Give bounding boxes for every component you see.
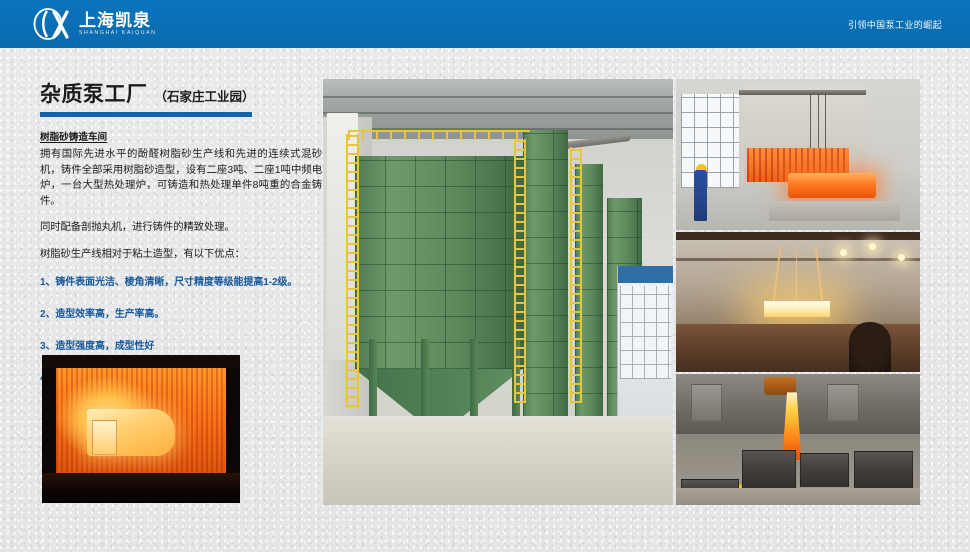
photo-crane-hot-billet — [676, 232, 920, 372]
sand-mold-box — [742, 450, 796, 489]
glowing-casting — [87, 409, 176, 456]
workshop-door — [827, 384, 859, 421]
section-heading: 树脂砂铸造车间 — [40, 131, 322, 145]
furnace-interior-glow — [56, 367, 226, 474]
sand-mold-box — [800, 453, 849, 487]
ceiling-lamp — [840, 249, 847, 256]
factory-window — [681, 94, 740, 188]
photo-furnace-hot-castings — [676, 79, 920, 230]
kaiquan-monogram-icon — [32, 7, 72, 41]
furnace-bottom-shadow — [42, 473, 240, 503]
safety-ladder — [346, 134, 359, 407]
glowing-billet — [764, 301, 830, 318]
pouring-ladle — [764, 377, 796, 395]
sand-hopper-main — [355, 156, 523, 369]
brand-logo: 上海凯泉 SHANGHAI KAIQUAN — [32, 7, 157, 41]
worker-silhouette — [849, 322, 891, 372]
content-column: 杂质泵工厂 （石家庄工业园） 树脂砂铸造车间 拥有国际先进水平的酚醛树脂砂生产线… — [40, 82, 322, 386]
brand-name-cn: 上海凯泉 — [79, 11, 157, 30]
body-paragraph-1: 拥有国际先进水平的酚醛树脂砂生产线和先进的连续式混砂机，铸件全部采用树脂砂造型，… — [40, 147, 322, 209]
photo-pouring-molten-metal — [676, 374, 920, 505]
mixer-tower-center — [523, 130, 569, 420]
body-paragraph-2: 同时配备剖抛丸机，进行铸件的精致处理。 — [40, 220, 322, 236]
brand-wordmark: 上海凯泉 SHANGHAI KAIQUAN — [79, 11, 157, 37]
title-underline-bar — [40, 112, 252, 117]
body-paragraph-3: 树脂砂生产线相对于粘土造型，有以下优点： — [40, 247, 322, 263]
sand-mold-box — [854, 451, 913, 488]
photo-heat-treatment-furnace — [42, 355, 240, 503]
furnace-cart — [769, 201, 901, 221]
presentation-slide: 上海凯泉 SHANGHAI KAIQUAN 引领中国泵工业的崛起 杂质泵工厂 （… — [0, 0, 970, 552]
glowing-casting — [788, 173, 876, 199]
support-leg — [421, 339, 429, 416]
list-item: 3、造型强度高，成型性好 — [40, 339, 322, 354]
page-title-sub: （石家庄工业园） — [155, 88, 255, 106]
worker-figure — [694, 170, 707, 221]
support-leg — [470, 339, 478, 416]
furnace-top-shadow — [42, 355, 240, 368]
workshop-door — [691, 384, 723, 421]
hall-office-building — [617, 266, 673, 432]
brand-name-en: SHANGHAI KAIQUAN — [79, 30, 157, 37]
page-title-main: 杂质泵工厂 — [40, 82, 148, 108]
hall-floor — [323, 416, 673, 505]
safety-ladder — [570, 147, 582, 403]
slide-header: 上海凯泉 SHANGHAI KAIQUAN 引领中国泵工业的崛起 — [0, 0, 970, 48]
photo-resin-sand-line — [323, 79, 673, 505]
support-leg — [369, 339, 377, 416]
header-tagline: 引领中国泵工业的崛起 — [848, 0, 942, 48]
safety-ladder — [514, 139, 526, 403]
list-item: 1、铸件表面光洁、棱角清晰，尺寸精度等级能提高1-2级。 — [40, 275, 322, 290]
sand-hopper-cone — [355, 369, 523, 420]
safety-railing — [348, 130, 530, 140]
list-item: 2、造型效率高，生产率高。 — [40, 307, 322, 322]
overhead-gantry — [739, 90, 866, 95]
page-title: 杂质泵工厂 （石家庄工业园） — [40, 82, 322, 108]
workshop-floor — [676, 488, 920, 505]
